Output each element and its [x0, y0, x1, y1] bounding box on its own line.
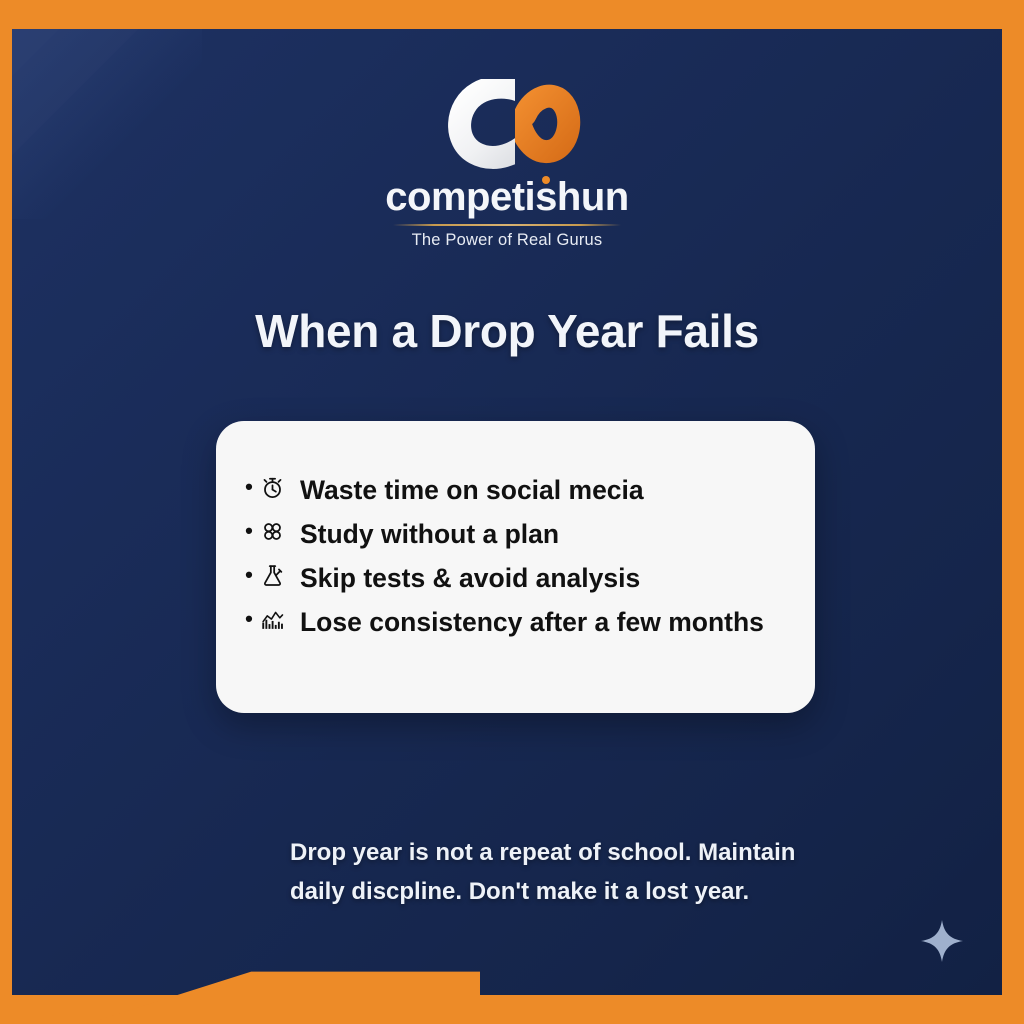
stopwatch-icon [260, 469, 300, 508]
list-item-label: Study without a plan [300, 513, 815, 556]
poster-inner-panel: competishun The Power of Real Gurus When… [12, 29, 1002, 995]
list-item: • [238, 601, 815, 644]
points-card: • Waste time on social mecia • [216, 421, 815, 713]
bullet-icon: • [238, 601, 260, 637]
footer-message: Drop year is not a repeat of school. Mai… [290, 834, 910, 912]
brand-wordmark-text: competishun [385, 175, 628, 219]
flower-icon [260, 513, 300, 552]
footer-line-1: Drop year is not a repeat of school. Mai… [290, 834, 910, 873]
list-item-label: Skip tests & avoid analysis [300, 557, 815, 600]
list-item: • Waste time on social mecia [238, 469, 815, 512]
points-list: • Waste time on social mecia • [216, 421, 815, 644]
sparkle-icon [920, 919, 964, 963]
brand-wordmark: competishun [385, 177, 628, 217]
bullet-icon: • [238, 469, 260, 505]
footer-line-2: daily discpline. Don't make it a lost ye… [290, 873, 910, 912]
bullet-icon: • [238, 513, 260, 549]
bullet-icon: • [238, 557, 260, 593]
list-item: • Study without a plan [238, 513, 815, 556]
list-item-label: Waste time on social mecia [300, 469, 815, 512]
list-item: • Skip tests & avoid analysis [238, 557, 815, 600]
page-title: When a Drop Year Fails [12, 304, 1002, 358]
poster-canvas: competishun The Power of Real Gurus When… [0, 0, 1024, 1024]
bar-chart-icon [260, 601, 300, 640]
list-item-label: Lose consistency after a few months [300, 601, 815, 644]
flask-icon [260, 557, 300, 596]
brand-divider [393, 224, 621, 226]
infinity-logo-icon [433, 79, 581, 171]
brand-tagline: The Power of Real Gurus [12, 231, 1002, 250]
brand-logo: competishun The Power of Real Gurus [12, 79, 1002, 250]
